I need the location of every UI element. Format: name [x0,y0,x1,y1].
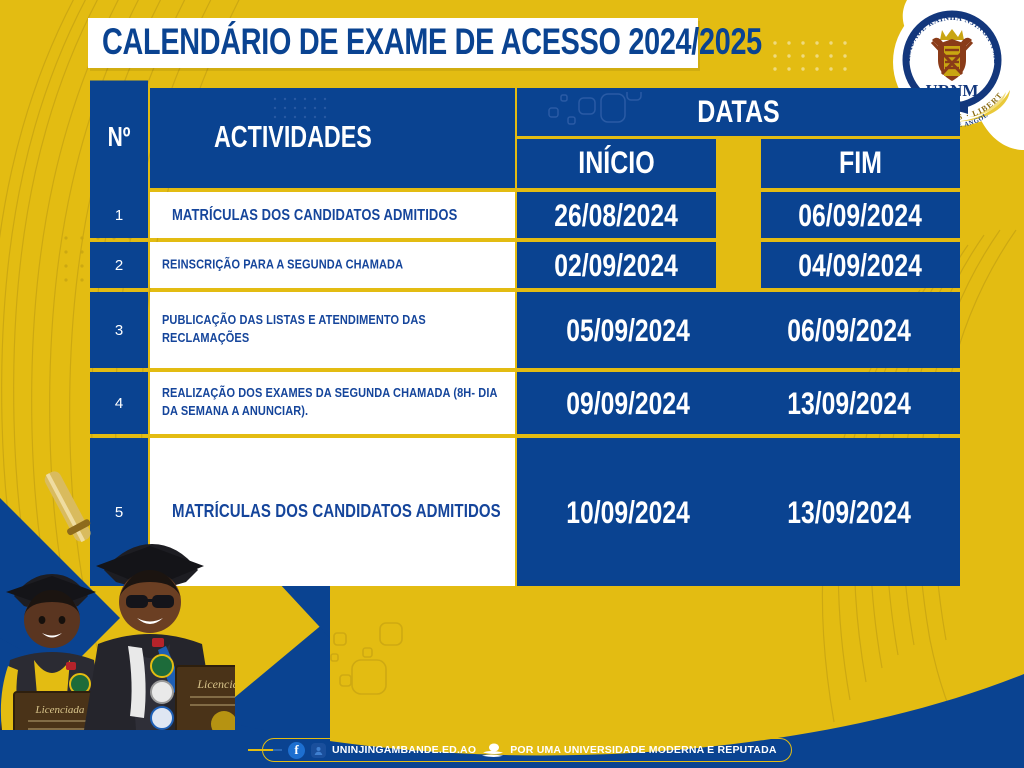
table-row: 1 MATRÍCULAS DOS CANDIDATOS ADMITIDOS 26… [90,192,960,238]
row-end-date-label: 06/09/2024 [787,311,911,349]
row-end-date: 06/09/2024 [739,292,961,368]
instagram-glyph [314,746,323,755]
row-activity: REINSCRIÇÃO PARA A SEGUNDA CHAMADA [150,242,515,288]
row-start-date: 05/09/2024 [517,292,739,368]
row-start-date: 02/09/2024 [517,242,716,288]
svg-text:Licenciada: Licenciada [35,704,85,716]
page-title: CALENDÁRIO DE EXAME DE ACESSO 2024/2025 [88,18,698,68]
square-confetti-header [545,92,665,132]
table-row: 3 PUBLICAÇÃO DAS LISTAS E ATENDIMENTO DA… [90,292,960,368]
row-end-date: 13/09/2024 [739,438,961,586]
row-number: 4 [90,372,148,434]
row-activity: PUBLICAÇÃO DAS LISTAS E ATENDIMENTO DAS … [150,292,515,368]
row-end-date-label: 06/09/2024 [799,196,923,234]
footer-dash-icon [273,749,282,751]
row-dates: 05/09/2024 06/09/2024 [517,292,960,368]
header-subcolumns: INÍCIO FIM [517,139,960,188]
row-activity-label: REINSCRIÇÃO PARA A SEGUNDA CHAMADA [162,256,403,274]
dot-grid-top-right [770,38,860,86]
footer-bar: f UNINJINGAMBANDE.ED.AO POR UMA UNIVERSI… [262,738,792,762]
header-number: Nº [90,81,148,196]
graduates-photo: Licenciada Licenciado [0,470,235,730]
row-start-date: 26/08/2024 [517,192,716,238]
footer-url[interactable]: UNINJINGAMBANDE.ED.AO [332,744,476,756]
row-end-date-label: 13/09/2024 [787,493,911,531]
header-start: INÍCIO [517,139,716,188]
footer-slogan: POR UMA UNIVERSIDADE MODERNA E REPUTADA [510,744,776,756]
svg-text:Licenciado: Licenciado [196,677,235,691]
table-row: 2 REINSCRIÇÃO PARA A SEGUNDA CHAMADA 02/… [90,242,960,288]
row-activity-label: REALIZAÇÃO DOS EXAMES DA SEGUNDA CHAMADA… [162,385,505,421]
row-number: 2 [90,242,148,288]
row-end-date: 06/09/2024 [761,192,960,238]
header-dates-label: DATAS [697,94,779,130]
wave-book-icon [482,743,504,757]
facebook-icon[interactable]: f [288,742,305,759]
row-activity-label: MATRÍCULAS DOS CANDIDATOS ADMITIDOS [172,204,457,225]
row-dates: 26/08/2024 06/09/2024 [517,192,960,238]
header-activities-label: ACTIVIDADES [214,120,372,156]
row-start-date-label: 09/09/2024 [566,384,690,422]
header-number-label: Nº [108,122,131,154]
row-end-date: 04/09/2024 [761,242,960,288]
row-start-date: 10/09/2024 [517,438,739,586]
instagram-icon[interactable] [311,743,326,758]
row-activity: REALIZAÇÃO DOS EXAMES DA SEGUNDA CHAMADA… [150,372,515,434]
table-header-row: Nº ACTIVIDADES [90,88,960,188]
row-dates: 09/09/2024 13/09/2024 [517,372,960,434]
header-end: FIM [761,139,960,188]
row-end-date: 13/09/2024 [739,372,961,434]
row-activity-label: PUBLICAÇÃO DAS LISTAS E ATENDIMENTO DAS … [162,312,505,348]
row-number: 3 [90,292,148,368]
row-end-date-label: 04/09/2024 [799,246,923,284]
row-activity: MATRÍCULAS DOS CANDIDATOS ADMITIDOS [150,192,515,238]
row-start-date-label: 05/09/2024 [566,311,690,349]
row-number: 1 [90,192,148,238]
header-activities: ACTIVIDADES [150,88,515,188]
row-dates: 10/09/2024 13/09/2024 [517,438,960,586]
header-dates-group: DATAS INÍCIO FIM [517,88,960,188]
row-start-date-label: 10/09/2024 [566,493,690,531]
header-dates: DATAS [517,88,960,136]
page-title-text: CALENDÁRIO DE EXAME DE ACESSO 2024/2025 [102,22,762,63]
header-start-label: INÍCIO [578,145,654,181]
table-row: 4 REALIZAÇÃO DOS EXAMES DA SEGUNDA CHAMA… [90,372,960,434]
row-end-date-label: 13/09/2024 [787,384,911,422]
row-start-date-label: 02/09/2024 [555,246,679,284]
row-start-date: 09/09/2024 [517,372,739,434]
row-dates: 02/09/2024 04/09/2024 [517,242,960,288]
header-end-label: FIM [839,145,882,181]
row-start-date-label: 26/08/2024 [555,196,679,234]
